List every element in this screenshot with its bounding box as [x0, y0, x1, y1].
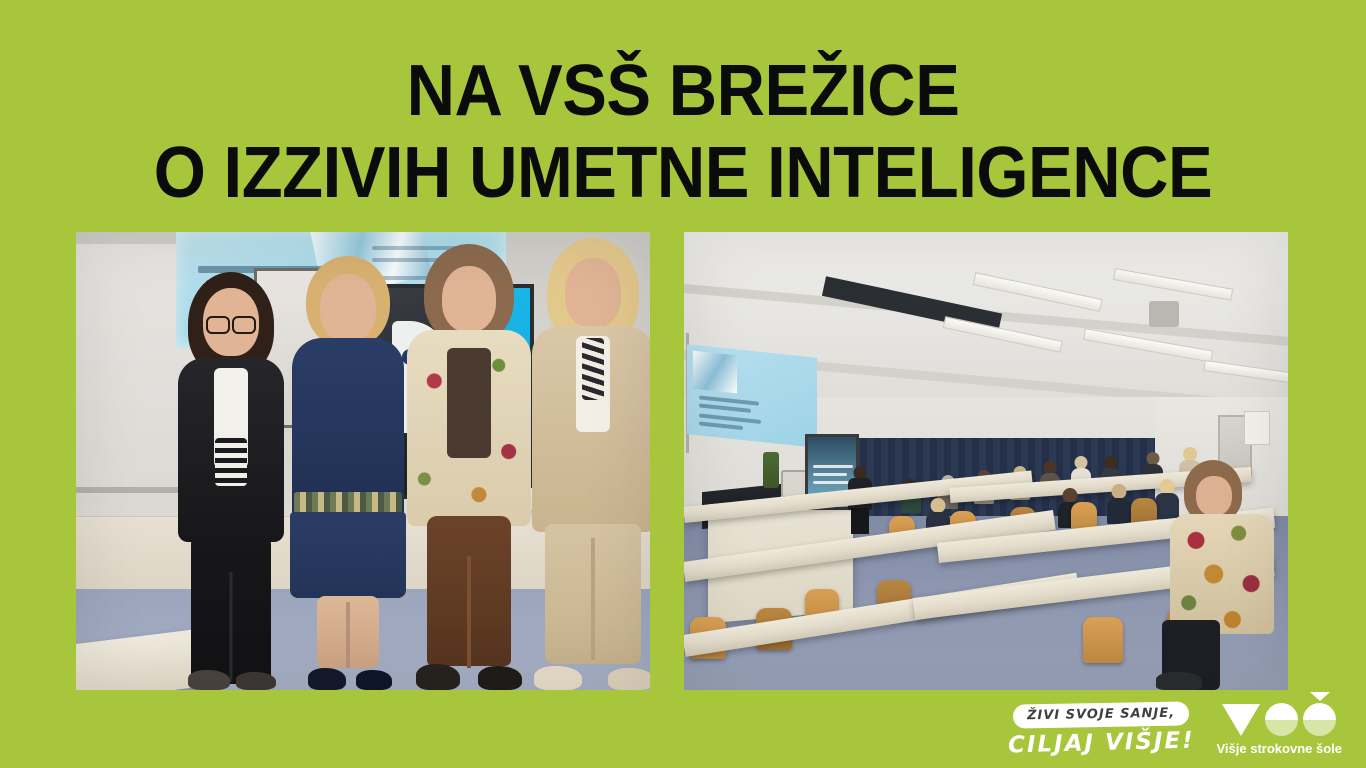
slide-line	[699, 422, 743, 431]
brand-name: Višje strokovne šole	[1217, 741, 1343, 756]
head	[1111, 484, 1126, 499]
face	[442, 266, 496, 332]
banner-line	[813, 473, 847, 476]
chair	[1083, 617, 1123, 663]
lecture-hall-photo-right	[684, 232, 1288, 690]
triangle-icon	[1222, 704, 1260, 736]
plant	[763, 452, 779, 488]
page-title: NA VSŠ BREŽICE O IZZIVIH UMETNE INTELIGE…	[0, 58, 1366, 207]
leg-split	[346, 602, 350, 668]
tagline-top: ŽIVI SVOJE SANJE,	[1013, 701, 1190, 728]
person-beige-suit	[528, 238, 650, 690]
face	[565, 258, 621, 328]
presenter-legs	[851, 508, 869, 534]
shoe	[1156, 672, 1202, 690]
torso	[1107, 498, 1131, 524]
shoe	[356, 670, 392, 690]
shoe	[534, 666, 582, 690]
floral-jacket	[1170, 514, 1274, 634]
face	[320, 274, 376, 342]
tagline: ŽIVI SVOJE SANJE, CILJAJ VIŠJE!	[1008, 703, 1195, 756]
leg-split	[230, 572, 233, 682]
face	[1196, 476, 1232, 516]
tagline-main: CILJAJ VIŠJE!	[1007, 727, 1194, 758]
person-floral-jacket	[406, 244, 532, 690]
slide-artwork	[693, 351, 737, 394]
lecture-hall-scene	[684, 232, 1288, 690]
head	[930, 498, 945, 513]
shoe	[188, 670, 230, 690]
audience-member	[1107, 484, 1131, 524]
slide-line	[699, 404, 751, 413]
person-leather-jacket	[172, 272, 290, 690]
skirt	[290, 512, 406, 598]
projector	[1149, 301, 1179, 327]
projection-screen	[687, 344, 817, 448]
banner-line	[813, 481, 851, 484]
title-line-2: O IZZIVIH UMETNE INTELIGENCE	[48, 140, 1318, 208]
leg-split	[591, 538, 595, 660]
shoe	[608, 668, 650, 690]
striped-top	[215, 438, 247, 486]
group-photo-left	[76, 232, 650, 690]
leg-split	[467, 556, 471, 668]
brand-mark	[1222, 702, 1336, 736]
logo-block: ŽIVI SVOJE SANJE, CILJAJ VIŠJE! Višje st…	[1008, 702, 1342, 756]
scarf	[582, 338, 604, 400]
shoe	[236, 672, 276, 690]
circle-icon	[1265, 703, 1298, 736]
head	[1063, 488, 1078, 503]
shoe	[416, 664, 460, 690]
foreground-attendee	[1156, 460, 1276, 690]
inner-top	[447, 348, 491, 458]
shoe	[308, 668, 346, 690]
title-line-1: NA VSŠ BREŽICE	[48, 58, 1318, 126]
wall-poster	[1244, 411, 1270, 445]
glasses-icon	[206, 316, 256, 330]
brand: Višje strokovne šole	[1217, 702, 1343, 756]
shoe	[478, 666, 522, 690]
person-navy-dress	[286, 256, 410, 690]
circle-capped-icon	[1303, 703, 1336, 736]
classroom-scene	[76, 232, 650, 690]
belt	[294, 492, 402, 514]
